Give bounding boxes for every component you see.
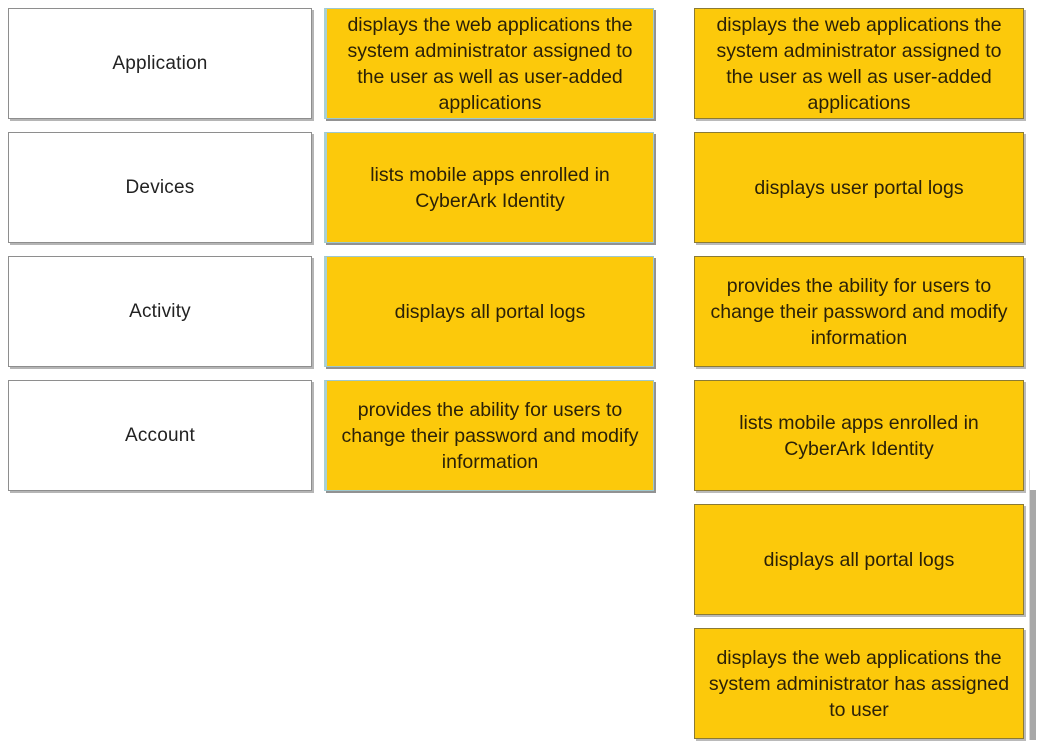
option-tile-text: displays all portal logs: [764, 547, 955, 573]
term-label: Activity: [129, 301, 191, 323]
matching-exercise-stage: Application Devices Activity Account dis…: [0, 0, 1040, 740]
term-item[interactable]: Activity: [8, 256, 312, 367]
answer-slot[interactable]: provides the ability for users to change…: [324, 380, 654, 491]
scrollbar-thumb[interactable]: [1030, 490, 1036, 740]
option-tile-text: provides the ability for users to change…: [703, 273, 1015, 351]
option-tile-text: displays user portal logs: [754, 175, 963, 201]
option-tile-text: displays the web applications the system…: [703, 12, 1015, 116]
term-label: Application: [112, 53, 207, 75]
option-tile[interactable]: displays all portal logs: [694, 504, 1024, 615]
answer-slot-text: displays the web applications the system…: [335, 12, 645, 116]
option-tile-text: lists mobile apps enrolled in CyberArk I…: [703, 410, 1015, 462]
answer-slot-text: provides the ability for users to change…: [335, 397, 645, 475]
option-tile-text: displays the web applications the system…: [703, 645, 1015, 723]
terms-column: Application Devices Activity Account: [8, 8, 312, 504]
answer-slot[interactable]: lists mobile apps enrolled in CyberArk I…: [324, 132, 654, 243]
option-tile[interactable]: displays the web applications the system…: [694, 8, 1024, 119]
option-bank-column: displays the web applications the system…: [694, 8, 1024, 752]
term-item[interactable]: Account: [8, 380, 312, 491]
option-tile[interactable]: provides the ability for users to change…: [694, 256, 1024, 367]
answer-slots-column: displays the web applications the system…: [324, 8, 654, 504]
option-tile[interactable]: lists mobile apps enrolled in CyberArk I…: [694, 380, 1024, 491]
answer-slot-text: displays all portal logs: [395, 299, 586, 325]
answer-slot[interactable]: displays all portal logs: [324, 256, 654, 367]
term-item[interactable]: Devices: [8, 132, 312, 243]
term-label: Devices: [126, 177, 195, 199]
answer-slot-text: lists mobile apps enrolled in CyberArk I…: [335, 162, 645, 214]
term-item[interactable]: Application: [8, 8, 312, 119]
term-label: Account: [125, 425, 195, 447]
option-tile[interactable]: displays the web applications the system…: [694, 628, 1024, 739]
answer-slot[interactable]: displays the web applications the system…: [324, 8, 654, 119]
option-tile[interactable]: displays user portal logs: [694, 132, 1024, 243]
